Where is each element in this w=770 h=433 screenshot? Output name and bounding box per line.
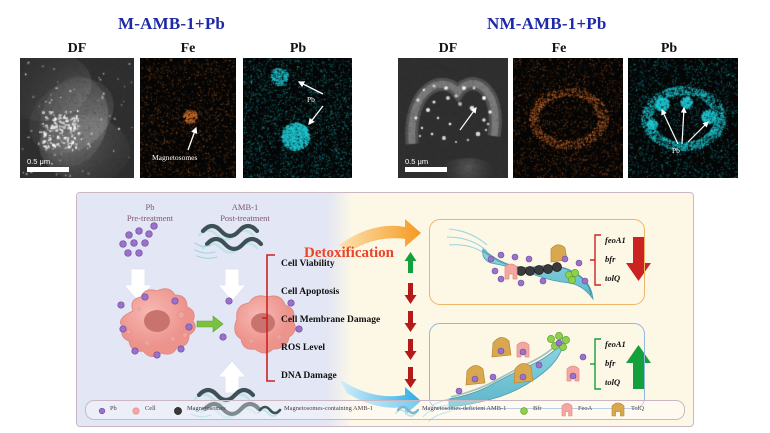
micrograph-g2-pb: Pb — [628, 58, 738, 178]
annotation-pb-g1: Pb — [307, 95, 315, 104]
annotation-pb-g2: Pb — [672, 146, 680, 155]
legend-label-pb: Pb — [110, 405, 117, 412]
micrograph-g1-darkfield: 0.5 μm — [20, 58, 134, 178]
panel-label-g1-pb: Pb — [268, 41, 328, 57]
legend-glyph-magnetosomes — [174, 407, 181, 414]
scalebar-label-g1-df: 0.5 μm — [27, 157, 50, 166]
step-amb1-line2: Post-treatment — [195, 213, 295, 224]
panel-label-g2-fe: Fe — [529, 41, 589, 57]
micrograph-g1-pb: Pb — [243, 58, 352, 178]
detox-item-cell-viability: Cell Viability — [281, 259, 335, 269]
legend-bar: Pb Cell Magnetosomes Magnetosomes-contai… — [85, 400, 685, 420]
legend-glyph-spiral-teal — [396, 407, 418, 416]
gene-label-bottom-bfr: bfr — [605, 358, 615, 368]
detox-item-cell-membrane-damage: Cell Membrane Damage — [281, 315, 380, 325]
detox-trend-arrows — [405, 252, 417, 388]
panel-label-g2-pb: Pb — [639, 41, 699, 57]
step-amb1-line1: AMB-1 — [195, 202, 295, 213]
scalebar-g1-df — [27, 167, 69, 172]
gene-label-top-bfr: bfr — [605, 254, 615, 264]
gene-label-bottom-tolq: tolQ — [605, 377, 620, 387]
legend-label-cell: Cell — [145, 405, 156, 412]
detox-item-cell-apoptosis: Cell Apoptosis — [281, 287, 339, 297]
legend-label-bfr: Bfr — [533, 405, 542, 412]
legend-label-tolq: TolQ — [631, 405, 644, 412]
group-title-m-amb1: M-AMB-1+Pb — [118, 14, 225, 34]
gene-label-bottom-feoa1: feoA1 — [605, 339, 626, 349]
legend-glyph-pb — [99, 408, 105, 414]
legend-glyph-cell — [133, 408, 139, 414]
legend-glyphs — [86, 401, 686, 421]
trend-arrow-4 — [405, 367, 417, 388]
schematic-left-background — [77, 193, 333, 426]
legend-glyph-feoa — [562, 404, 572, 417]
gene-label-top-feoa1: feoA1 — [605, 235, 626, 245]
micrograph-g2-fe — [513, 58, 623, 178]
micrograph-g2-darkfield: 0.5 μm — [398, 58, 508, 178]
figure-root: M-AMB-1+Pb NM-AMB-1+Pb DF Fe Pb DF Fe Pb… — [0, 0, 770, 433]
step-pb-line2: Pre-treatment — [105, 213, 195, 224]
detox-item-dna-damage: DNA Damage — [281, 371, 337, 381]
schematic-gradient-divider — [327, 193, 353, 426]
step-pb-line1: Pb — [105, 202, 195, 213]
legend-glyph-tolq — [612, 403, 624, 416]
micrograph-g1-fe: Magnetosomes — [140, 58, 236, 178]
trend-arrow-2 — [405, 311, 417, 332]
step-pb-pretreatment: Pb Pre-treatment — [105, 202, 195, 223]
group-title-nm-amb1: NM-AMB-1+Pb — [487, 14, 607, 34]
panel-label-g1-fe: Fe — [158, 41, 218, 57]
legend-label-feoa: FeoA — [578, 405, 592, 412]
legend-glyph-spiral-dark — [258, 407, 280, 416]
legend-label-magnetosomes: Magnetosomes — [187, 405, 226, 412]
legend-label-magnetosomes-deficient: Magnetosomes-deficient AMB-1 — [422, 405, 506, 412]
trend-arrow-1 — [405, 283, 417, 304]
annotation-magnetosomes: Magnetosomes — [152, 153, 197, 162]
scalebar-g2-df — [405, 167, 447, 172]
step-amb1-posttreatment: AMB-1 Post-treatment — [195, 202, 295, 223]
scalebar-label-g2-df: 0.5 μm — [405, 157, 428, 166]
gene-label-top-tolq: tolQ — [605, 273, 620, 283]
mechanism-schematic: Pb Pre-treatment AMB-1 Post-treatment — [76, 192, 694, 427]
trend-arrow-3 — [405, 339, 417, 360]
detox-item-ros-level: ROS Level — [281, 343, 325, 353]
panel-label-g1-df: DF — [47, 41, 107, 57]
legend-glyph-bfr — [521, 408, 528, 415]
panel-label-g2-df: DF — [418, 41, 478, 57]
legend-label-magnetosomes-containing: Magnetosomes-containing AMB-1 — [284, 405, 373, 412]
